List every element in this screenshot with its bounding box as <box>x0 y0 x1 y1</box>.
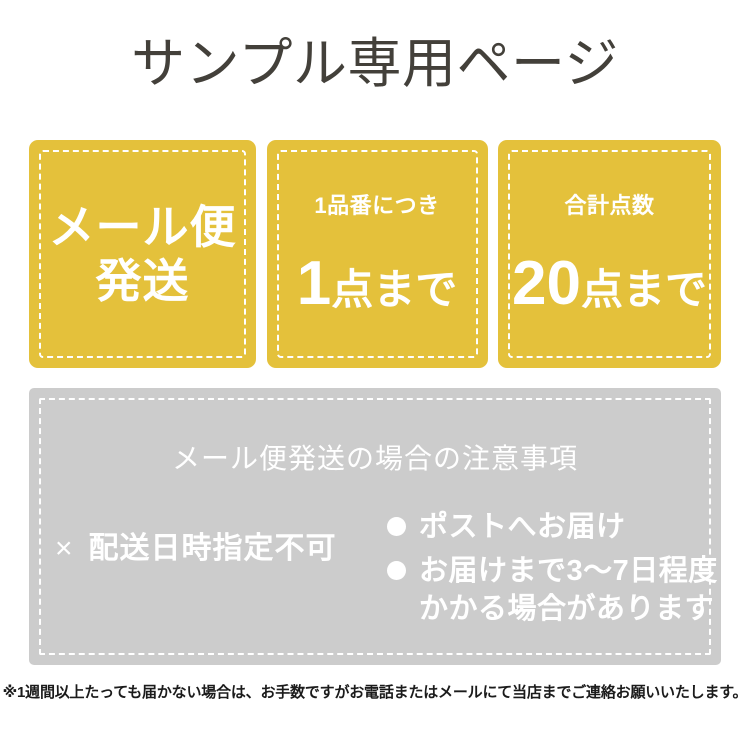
card-total-limit-value: 20 <box>512 249 581 318</box>
card-shipping-method: メール便 発送 <box>29 140 256 368</box>
card-total-limit-caption: 合計点数 <box>498 193 721 219</box>
card-shipping-method-line1: メール便 <box>29 200 256 254</box>
info-card-row: メール便 発送 1品番につき 1点まで 合計点数 20点まで <box>29 140 721 368</box>
bullet-dot-icon <box>387 517 406 536</box>
card-per-item-limit-value-line: 1点まで <box>267 253 488 315</box>
card-total-limit: 合計点数 20点まで <box>498 140 721 368</box>
notice-bullet-list: ポストへお届け お届けまで3〜7日程度 かかる場合があります <box>385 508 715 634</box>
card-per-item-limit: 1品番につき 1点まで <box>267 140 488 368</box>
card-total-limit-value-line: 20点まで <box>498 253 721 315</box>
notice-restriction-text: 配送日時指定不可 <box>89 532 337 566</box>
cross-icon: × <box>55 534 73 564</box>
card-per-item-limit-value: 1 <box>297 249 331 318</box>
notice-bullet-item-delivery-time: お届けまで3〜7日程度 かかる場合があります <box>385 552 715 628</box>
notice-restriction-item: × 配送日時指定不可 <box>55 532 385 566</box>
notice-bullet-item-delivery-time-line1: お届けまで3〜7日程度 <box>419 552 715 590</box>
card-per-item-limit-caption: 1品番につき <box>267 193 488 219</box>
card-shipping-method-content: メール便 発送 <box>29 200 256 308</box>
notice-bullet-item-delivery-to-post: ポストへお届け <box>385 508 715 546</box>
card-per-item-limit-unit: 点まで <box>331 266 457 313</box>
page-title: サンプル専用ページ <box>0 32 750 96</box>
footer-note: ※1週間以上たっても届かない場合は、お手数ですがお電話またはメールにて当店までご… <box>0 682 750 704</box>
notice-bullet-item-delivery-time-line2: かかる場合があります <box>419 590 715 628</box>
card-total-limit-content: 合計点数 20点まで <box>498 193 721 315</box>
notice-heading: メール便発送の場合の注意事項 <box>29 442 721 476</box>
sample-page-banner: サンプル専用ページ メール便 発送 1品番につき 1点まで 合計点数 <box>0 0 750 750</box>
card-per-item-limit-content: 1品番につき 1点まで <box>267 193 488 315</box>
bullet-dot-icon <box>387 561 406 580</box>
notice-panel: メール便発送の場合の注意事項 × 配送日時指定不可 ポストへお届け お届けまで3… <box>29 388 721 665</box>
card-shipping-method-line2: 発送 <box>29 254 256 308</box>
card-total-limit-unit: 点まで <box>581 266 707 313</box>
notice-bullet-item-delivery-to-post-line1: ポストへお届け <box>419 508 715 546</box>
notice-body: × 配送日時指定不可 ポストへお届け お届けまで3〜7日程度 かかる場合がありま… <box>29 508 721 648</box>
